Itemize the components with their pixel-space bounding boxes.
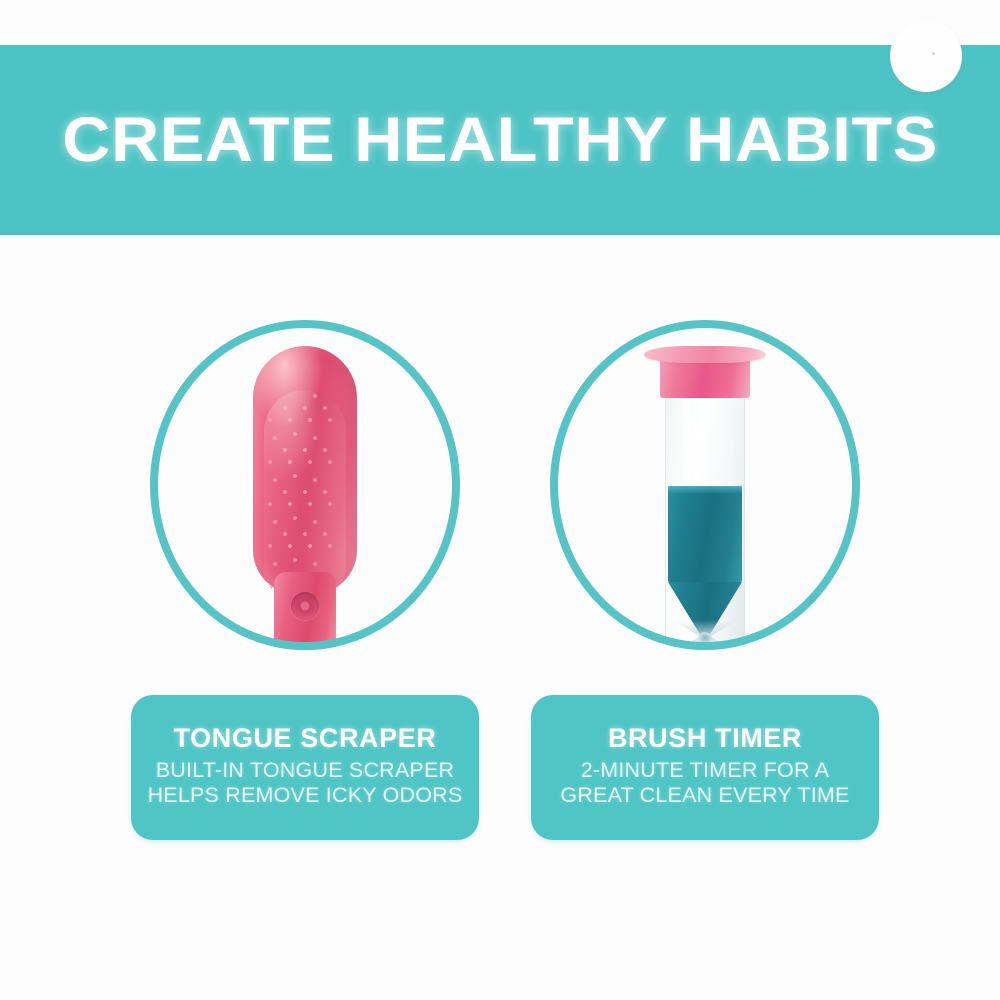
caption-title: BRUSH TIMER [608,723,802,754]
product-feature-graphic: CREATE HEALTHY HABITS TONGUE SCRAPER BUI… [0,0,1000,1000]
teal-ring-outline [550,320,860,650]
feature-brush-timer: BRUSH TIMER 2-MINUTE TIMER FOR A GREAT C… [505,300,905,860]
caption-line-1: 2-MINUTE TIMER FOR A [581,758,829,783]
feature-row: TONGUE SCRAPER BUILT-IN TONGUE SCRAPER H… [0,300,1000,860]
brush-timer-circle-frame [550,320,860,650]
caption-line-1: BUILT-IN TONGUE SCRAPER [156,758,455,783]
caption-card-tongue-scraper: TONGUE SCRAPER BUILT-IN TONGUE SCRAPER H… [131,695,479,840]
page-title: CREATE HEALTHY HABITS [0,45,1000,235]
teal-ring-outline [150,320,460,650]
feature-tongue-scraper: TONGUE SCRAPER BUILT-IN TONGUE SCRAPER H… [105,300,505,860]
caption-line-2: HELPS REMOVE ICKY ODORS [148,783,463,808]
tongue-scraper-circle-frame [150,320,460,650]
caption-card-brush-timer: BRUSH TIMER 2-MINUTE TIMER FOR A GREAT C… [531,695,879,840]
caption-title: TONGUE SCRAPER [174,723,437,754]
caption-line-2: GREAT CLEAN EVERY TIME [560,783,849,808]
